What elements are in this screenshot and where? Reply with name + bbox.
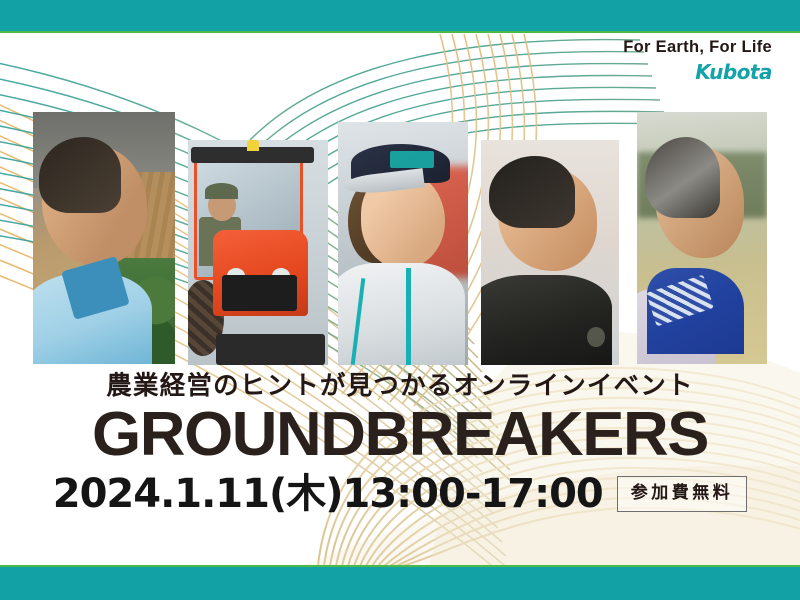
kubota-logo: Kubota bbox=[623, 62, 772, 82]
photo-man-black-tshirt: Man in black t-shirt in profile against … bbox=[481, 140, 619, 365]
top-teal-band bbox=[0, 0, 800, 33]
event-datetime: 2024.1.11(木)13:00-17:00 bbox=[53, 474, 603, 514]
headline-block: 農業経営のヒントが見つかるオンラインイベント GROUNDBREAKERS 20… bbox=[0, 372, 800, 514]
event-tagline-japanese: 農業経営のヒントが見つかるオンラインイベント bbox=[0, 372, 800, 400]
photo-2-caption: Orange Kubota tractor with operator in t… bbox=[188, 364, 189, 365]
event-title: GROUNDBREAKERS bbox=[0, 404, 800, 466]
photo-kubota-tractor: Orange Kubota tractor with operator in t… bbox=[188, 140, 328, 365]
brand-tagline: For Earth, For Life bbox=[623, 38, 772, 56]
event-banner: For Earth, For Life Kubota Smiling farme… bbox=[0, 0, 800, 600]
photo-4-caption: Man in black t-shirt in profile against … bbox=[481, 364, 482, 365]
photo-1-caption: Smiling farmer in light blue polo shirt … bbox=[33, 363, 34, 364]
photo-5-caption: Senior farmer with grey hair and blue to… bbox=[637, 363, 638, 364]
bottom-teal-band bbox=[0, 565, 800, 600]
photo-senior-farmer-towel: Senior farmer with grey hair and blue to… bbox=[637, 112, 767, 364]
photo-woman-kubota-cap: Smiling woman wearing navy Kubota cap an… bbox=[338, 122, 468, 365]
event-date-row: 2024.1.11(木)13:00-17:00 参加費無料 bbox=[0, 474, 800, 514]
free-admission-badge: 参加費無料 bbox=[617, 476, 748, 512]
kubota-brand-lockup: For Earth, For Life Kubota bbox=[623, 38, 772, 82]
photo-3-caption: Smiling woman wearing navy Kubota cap an… bbox=[338, 364, 339, 365]
photo-farmer-blue-polo: Smiling farmer in light blue polo shirt … bbox=[33, 112, 175, 364]
